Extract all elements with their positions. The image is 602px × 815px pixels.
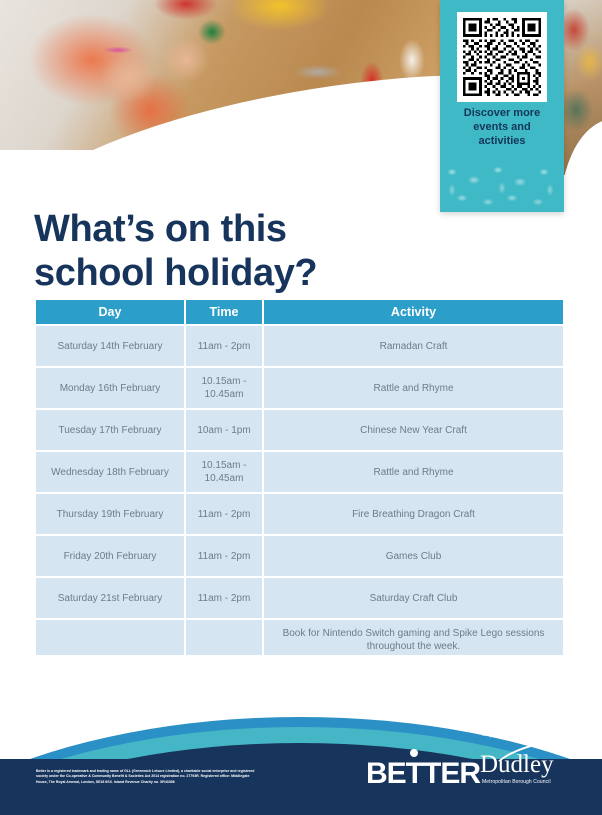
- better-logo-figure-head-icon: [410, 749, 418, 757]
- qr-caption-line-1: Discover more: [444, 106, 560, 120]
- cell-day: [36, 620, 184, 660]
- damask-pattern: [440, 160, 564, 212]
- qr-caption-line-2: events and: [444, 120, 560, 134]
- cell-activity: Chinese New Year Craft: [264, 410, 563, 450]
- table-row: Tuesday 17th February 10am - 1pm Chinese…: [36, 410, 563, 450]
- table-row: Thursday 19th February 11am - 2pm Fire B…: [36, 494, 563, 534]
- schedule-table: Day Time Activity Saturday 14th February…: [34, 298, 565, 662]
- cell-time: 11am - 2pm: [186, 494, 262, 534]
- table-row: Saturday 21st February 11am - 2pm Saturd…: [36, 578, 563, 618]
- better-logo-text: BETTER: [366, 759, 480, 789]
- qr-panel[interactable]: Discover more events and activities: [440, 0, 564, 212]
- table-row: Saturday 14th February 11am - 2pm Ramada…: [36, 326, 563, 366]
- table-row: Friday 20th February 11am - 2pm Games Cl…: [36, 536, 563, 576]
- cell-day: Thursday 19th February: [36, 494, 184, 534]
- footer: Better is a registered trademark and tra…: [0, 655, 602, 815]
- cell-day: Tuesday 17th February: [36, 410, 184, 450]
- table-header-row: Day Time Activity: [36, 300, 563, 324]
- column-header-time: Time: [186, 300, 262, 324]
- column-header-day: Day: [36, 300, 184, 324]
- qr-caption-line-3: activities: [444, 134, 560, 148]
- dudley-logo-subtitle: Metropolitan Borough Council: [482, 779, 551, 785]
- table-row: Monday 16th February 10.15am - 10.45am R…: [36, 368, 563, 408]
- cell-activity: Fire Breathing Dragon Craft: [264, 494, 563, 534]
- cell-time: 10.15am - 10.45am: [186, 368, 262, 408]
- qr-code-container[interactable]: [457, 12, 547, 102]
- schedule-table-body: Saturday 14th February 11am - 2pm Ramada…: [36, 326, 563, 660]
- cell-time: 10am - 1pm: [186, 410, 262, 450]
- cell-day: Friday 20th February: [36, 536, 184, 576]
- cell-time: [186, 620, 262, 660]
- cell-day: Monday 16th February: [36, 368, 184, 408]
- page-title-line-2: school holiday?: [34, 252, 317, 294]
- table-row-note: Book for Nintendo Switch gaming and Spik…: [36, 620, 563, 660]
- cell-activity: Ramadan Craft: [264, 326, 563, 366]
- better-logo: BETTER: [366, 749, 464, 789]
- page-title-line-1: What’s on this: [34, 208, 287, 250]
- page-title: What’s on this school holiday?: [34, 207, 434, 295]
- cell-activity: Saturday Craft Club: [264, 578, 563, 618]
- cell-time: 11am - 2pm: [186, 578, 262, 618]
- cell-activity: Rattle and Rhyme: [264, 368, 563, 408]
- cell-activity: Games Club: [264, 536, 563, 576]
- partner-logo-block: In partnership with Dudley Metropolitan …: [476, 731, 588, 793]
- column-header-activity: Activity: [264, 300, 563, 324]
- legal-text: Better is a registered trademark and tra…: [36, 769, 262, 785]
- cell-time: 11am - 2pm: [186, 536, 262, 576]
- cell-activity: Rattle and Rhyme: [264, 452, 563, 492]
- cell-activity-note: Book for Nintendo Switch gaming and Spik…: [264, 620, 563, 660]
- qr-code-icon: [463, 18, 541, 96]
- cell-day: Saturday 14th February: [36, 326, 184, 366]
- table-row: Wednesday 18th February 10.15am - 10.45a…: [36, 452, 563, 492]
- partnership-label: In partnership with: [482, 731, 539, 738]
- dudley-logo-text: Dudley: [480, 751, 554, 779]
- cell-day: Saturday 21st February: [36, 578, 184, 618]
- poster-root: Discover more events and activities What…: [0, 0, 602, 815]
- qr-panel-caption: Discover more events and activities: [444, 106, 560, 148]
- cell-time: 11am - 2pm: [186, 326, 262, 366]
- cell-time: 10.15am - 10.45am: [186, 452, 262, 492]
- cell-day: Wednesday 18th February: [36, 452, 184, 492]
